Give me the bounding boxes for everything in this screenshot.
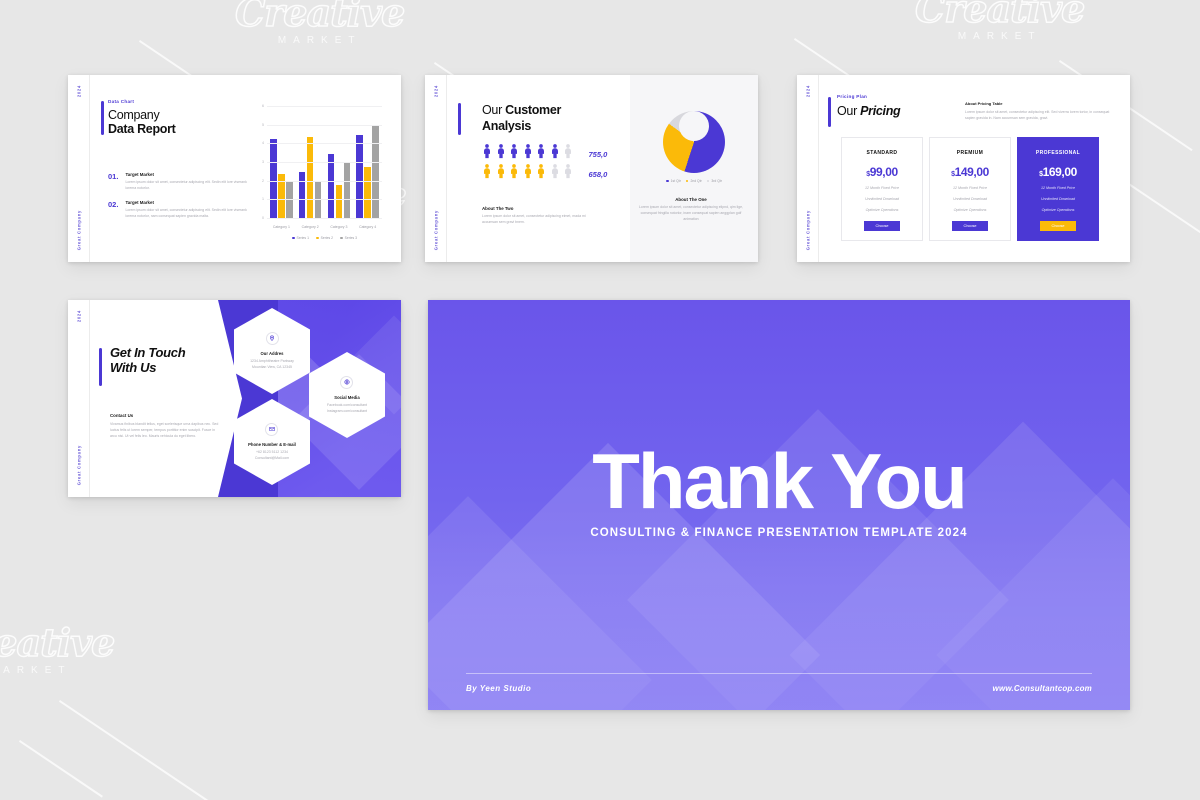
slide-contact[interactable]: 2024 Great Company Get In Touch With Us … [68,300,401,497]
slide4-title-line2: With Us [110,360,185,375]
hex-line1: 1234 Amphitheatre Parkway [250,359,294,365]
slide-customer-analysis[interactable]: 2024 Great Company Our Customer Analysis… [425,75,758,262]
list-item: 01. Target Market Lorem ipsum dolor sit … [108,172,248,191]
slide2-title-line1: Our Customer [482,101,561,119]
slide-data-report[interactable]: 2024 Great Company Data Chart Company Da… [68,75,401,262]
legend-swatch [686,180,689,183]
person-icon [536,163,546,179]
plan-feature: 12 Month Fixed Price [842,186,922,190]
hex-title: Our Addres [250,351,294,356]
hex-line2: Instagram.com/consultant [327,409,367,415]
choose-button[interactable]: Choose [952,221,987,231]
slide-deck-canvas: Creative MARKET Creative MARKET Creative… [0,0,1200,800]
bar-chart-x-labels: Category 1Category 2Category 3Category 4 [267,225,382,229]
legend-swatch [340,237,343,240]
person-icon [496,143,506,159]
x-axis-label: Category 2 [296,225,325,229]
slide3-about: About Pricing Table Lorem ipsum dolor si… [965,101,1110,121]
legend-item: Series 2 [316,236,333,240]
slide3-title-light: Our [837,104,860,118]
donut-legend: 1st Qtr2nd Qtr3rd Qtr [663,179,725,183]
legend-item: Series 3 [340,236,357,240]
note-body: Lorem ipsum dolor sit amet, consectetur … [638,204,744,222]
gridline: 4 [267,143,382,144]
bar [270,139,277,219]
plan-name: PREMIUM [930,150,1010,156]
note-title: About The Two [482,206,602,211]
legend-item: 2nd Qtr [686,179,702,183]
slide4-contact-block: Contact Us Vivamus finibus blandit tellu… [110,413,220,439]
legend-swatch [666,180,669,183]
donut-ring [663,111,725,173]
person-icon [509,143,519,159]
legend-swatch [316,237,319,240]
x-axis-label: Category 3 [325,225,354,229]
slide-thank-you[interactable]: Thank You CONSULTING & FINANCE PRESENTAT… [428,300,1130,710]
plan-feature: Unnlimited Download [930,197,1010,201]
bar-chart-legend: Series 1Series 2Series 3 [267,236,382,240]
y-axis-tick: 6 [262,104,264,108]
rail-year: 2024 [805,85,810,97]
contact-title: Contact Us [110,413,220,418]
phone-mail-icon [265,423,278,436]
rail-year: 2024 [433,85,438,97]
thankyou-subtitle: CONSULTING & FINANCE PRESENTATION TEMPLA… [428,527,1130,539]
item-title: Target Market [125,200,248,205]
person-icon [563,143,573,159]
item-number: 01. [108,172,118,191]
person-icon [536,143,546,159]
rail-company: Great Company [433,210,438,250]
hex-line1: Facebook.com/consultant [327,403,367,409]
y-axis-tick: 0 [262,216,264,220]
pricing-card-standard[interactable]: STANDARD $99,00 12 Month Fixed Price Unn… [841,137,923,241]
accent-bar [828,97,831,127]
about-body: Lorem ipsum dolor sit amet, consectetur … [965,109,1110,121]
legend-item: Series 1 [292,236,309,240]
hex-title: Phone Number & E-mail [248,442,296,447]
pictogram-rows: 755,0 658,0 [482,143,607,179]
legend-label: Series 1 [297,236,309,240]
slide-pricing[interactable]: 2024 Great Company Pricing Plan Our Pric… [797,75,1130,262]
plan-feature: 12 Month Fixed Price [930,186,1010,190]
pictogram-row: 658,0 [482,163,607,179]
plan-feature: Unnlimited Download [1018,197,1098,201]
hex-card-phone[interactable]: Phone Number & E-mail +62 8123 5112 1234… [234,399,310,485]
about-title: About Pricing Table [965,101,1110,106]
slide2-title-line2: Analysis [482,119,561,133]
thankyou-author: By Yeen Studio [466,684,531,693]
plan-amount: 169,00 [1043,165,1077,179]
bar [372,126,379,219]
plan-feature: Optimize Operations [930,208,1010,212]
legend-swatch [292,237,295,240]
x-axis-label: Category 1 [267,225,296,229]
bar [356,135,363,219]
plan-name: STANDARD [842,150,922,156]
gridline: 6 [267,106,382,107]
x-axis-label: Category 4 [353,225,382,229]
rail-company: Great Company [805,210,810,250]
slide3-title: Our Pricing [837,102,900,120]
person-icon [563,163,573,179]
watermark-mid-left: Creative MARKET [0,620,114,676]
legend-item: 1st Qtr [666,179,681,183]
choose-button[interactable]: Choose [864,221,899,231]
person-icon [523,163,533,179]
plan-price: $169,00 [1018,165,1098,179]
slide1-title-bold: Data Report [108,122,176,136]
watermark-top-left: Creative MARKET [235,0,404,46]
item-body: Lorem ipsum dolor sit amet, consectetur … [125,207,248,219]
slide3-eyebrow: Pricing Plan [837,94,900,99]
slide2-title-bold: Customer [505,103,561,117]
plan-feature: Optimize Operations [1018,208,1098,212]
watermark-top-right: Creative MARKET [915,0,1084,42]
slide-rail: 2024 Great Company [797,75,819,262]
slide1-eyebrow: Data Chart [108,99,176,104]
accent-bar [99,348,102,386]
item-title: Target Market [125,172,248,177]
note-title: About The One [638,197,744,202]
hex-title: Social Media [327,395,367,400]
slide1-title-light: Company [108,108,176,122]
plan-feature: Unnlimited Download [842,197,922,201]
plan-price: $99,00 [842,165,922,179]
hex-card-address[interactable]: Our Addres 1234 Amphitheatre Parkway Mou… [234,308,310,394]
legend-label: Series 3 [345,236,357,240]
pictogram-value: 755,0 [589,150,608,159]
legend-item: 3rd Qtr [707,179,722,183]
person-icon [482,163,492,179]
hex-card-social[interactable]: Social Media Facebook.com/consultant Ins… [309,352,385,438]
person-icon [550,163,560,179]
item-number: 02. [108,200,118,219]
bar-chart: 0123456 Category 1Category 2Category 3Ca… [254,103,386,243]
gridline: 3 [267,162,382,163]
legend-label: 3rd Qtr [711,179,722,183]
bar [307,137,314,219]
person-icon [523,143,533,159]
thankyou-title: Thank You [428,442,1130,520]
hex-line2: Consultant@Mail.com [248,456,296,462]
slide-rail: 2024 Great Company [425,75,447,262]
plan-price: $149,00 [930,165,1010,179]
legend-label: 1st Qtr [671,179,681,183]
slide4-title-line1: Get In Touch [110,345,185,360]
note-body: Lorem ipsum dolor sit amet, consectetur … [482,213,602,225]
person-icon [482,143,492,159]
bar [344,163,351,219]
y-axis-tick: 2 [262,179,264,183]
plan-feature: 12 Month Fixed Price [1018,186,1098,190]
globe-icon [340,376,353,389]
person-icon [509,163,519,179]
gridline: 5 [267,125,382,126]
bar [299,172,306,219]
pictogram-value: 658,0 [589,170,608,179]
donut-chart: 1st Qtr2nd Qtr3rd Qtr [663,95,725,183]
pictogram-row: 755,0 [482,143,607,159]
slide-rail: 2024 Great Company [68,300,90,497]
rail-year: 2024 [76,310,81,322]
slide2-title-light: Our [482,103,505,117]
legend-label: 2nd Qtr [690,179,701,183]
slide3-title-bold: Pricing [860,104,900,118]
watermark-stroke [19,740,103,798]
gridline: 2 [267,181,382,182]
slide1-items: 01. Target Market Lorem ipsum dolor sit … [108,172,248,229]
rail-company: Great Company [76,210,81,250]
plan-name: PROFESSIONAL [1018,150,1098,156]
rail-year: 2024 [76,85,81,97]
contact-body: Vivamus finibus blandit tellus, eget sce… [110,421,220,439]
rail-company: Great Company [76,445,81,485]
accent-bar [101,101,104,135]
plan-amount: 99,00 [870,165,898,179]
pricing-card-professional[interactable]: PROFESSIONAL $169,00 12 Month Fixed Pric… [1017,137,1099,241]
hex-line2: Mountian View, CA 12345 [250,365,294,371]
slide2-note-left: About The Two Lorem ipsum dolor sit amet… [482,206,602,225]
y-axis-tick: 3 [262,160,264,164]
bar [364,167,371,219]
bar [328,154,335,219]
haze-overlay [428,530,1130,710]
pricing-card-premium[interactable]: PREMIUM $149,00 12 Month Fixed Price Unn… [929,137,1011,241]
y-axis-tick: 4 [262,141,264,145]
accent-bar [458,103,461,135]
map-pin-icon [266,332,279,345]
thankyou-url[interactable]: www.Consultantcop.com [993,684,1092,693]
choose-button[interactable]: Choose [1040,221,1075,231]
gridline: 1 [267,199,382,200]
plan-feature: Optimize Operations [842,208,922,212]
bar [336,185,343,219]
list-item: 02. Target Market Lorem ipsum dolor sit … [108,200,248,219]
plan-amount: 149,00 [955,165,989,179]
item-body: Lorem ipsum dolor sit amet, consectetur … [125,179,248,191]
person-icon [550,143,560,159]
slide-rail: 2024 Great Company [68,75,90,262]
person-icon [496,163,506,179]
bar-chart-plot: 0123456 [267,107,382,219]
legend-swatch [707,180,710,183]
y-axis-tick: 1 [262,197,264,201]
footer-divider [466,673,1092,674]
gridline: 0 [267,218,382,219]
y-axis-tick: 5 [262,123,264,127]
slide2-note-right: About The One Lorem ipsum dolor sit amet… [638,197,744,222]
legend-label: Series 2 [321,236,333,240]
